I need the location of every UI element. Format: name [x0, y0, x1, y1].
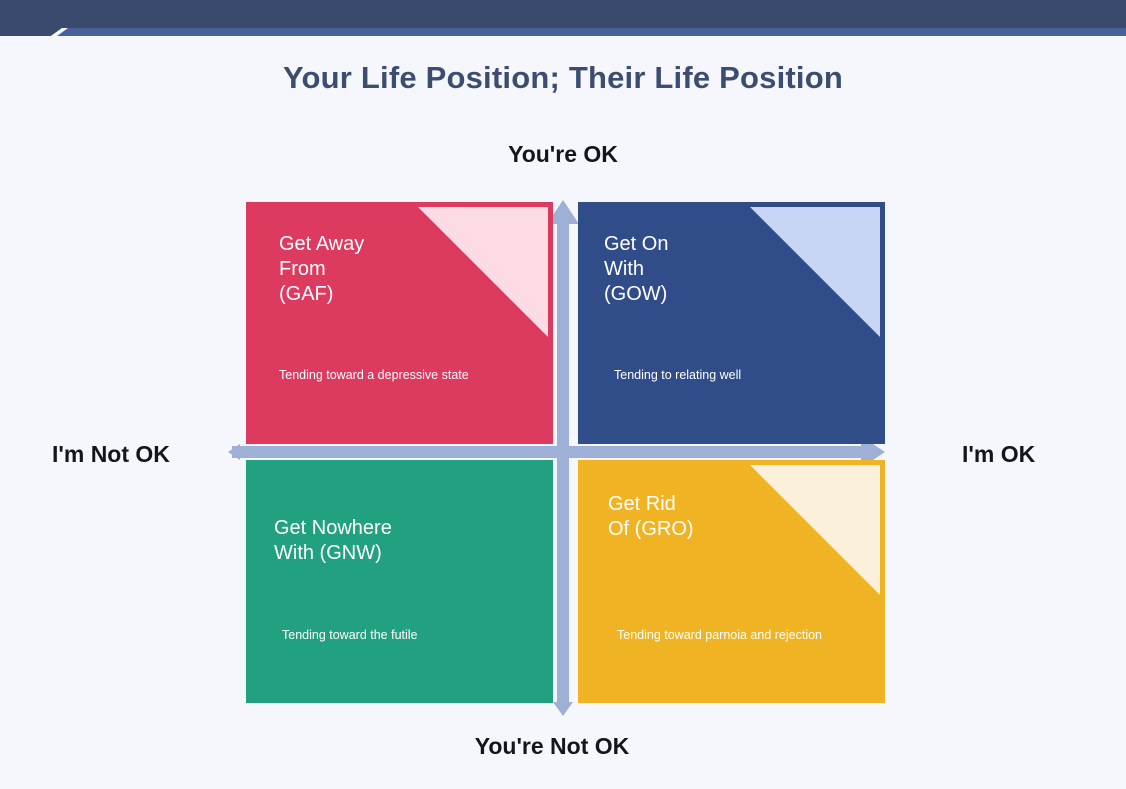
corner-triangle-icon: [750, 465, 880, 595]
quadrant-gaf[interactable]: Get Away From (GAF) Tending toward a dep…: [246, 202, 553, 444]
life-position-matrix: Get Away From (GAF) Tending toward a dep…: [0, 0, 1126, 789]
quadrant-gow-subtitle: Tending to relating well: [614, 368, 741, 382]
quadrant-gro-heading: Get Rid Of (GRO): [608, 492, 694, 542]
quadrant-gow-heading: Get On With (GOW): [604, 232, 668, 307]
quadrant-gnw-heading: Get Nowhere With (GNW): [274, 516, 392, 566]
corner-triangle-icon: [418, 207, 548, 337]
quadrant-gnw-subtitle: Tending toward the futile: [282, 628, 418, 642]
quadrant-gro-subtitle: Tending toward parnoia and rejection: [617, 628, 822, 642]
quadrant-gnw[interactable]: Get Nowhere With (GNW) Tending toward th…: [246, 460, 553, 703]
corner-triangle-icon: [750, 207, 880, 337]
quadrant-gaf-subtitle: Tending toward a depressive state: [279, 368, 469, 382]
quadrant-gaf-heading: Get Away From (GAF): [279, 232, 364, 307]
quadrant-gro[interactable]: Get Rid Of (GRO) Tending toward parnoia …: [578, 460, 885, 703]
quadrant-gow[interactable]: Get On With (GOW) Tending to relating we…: [578, 202, 885, 444]
